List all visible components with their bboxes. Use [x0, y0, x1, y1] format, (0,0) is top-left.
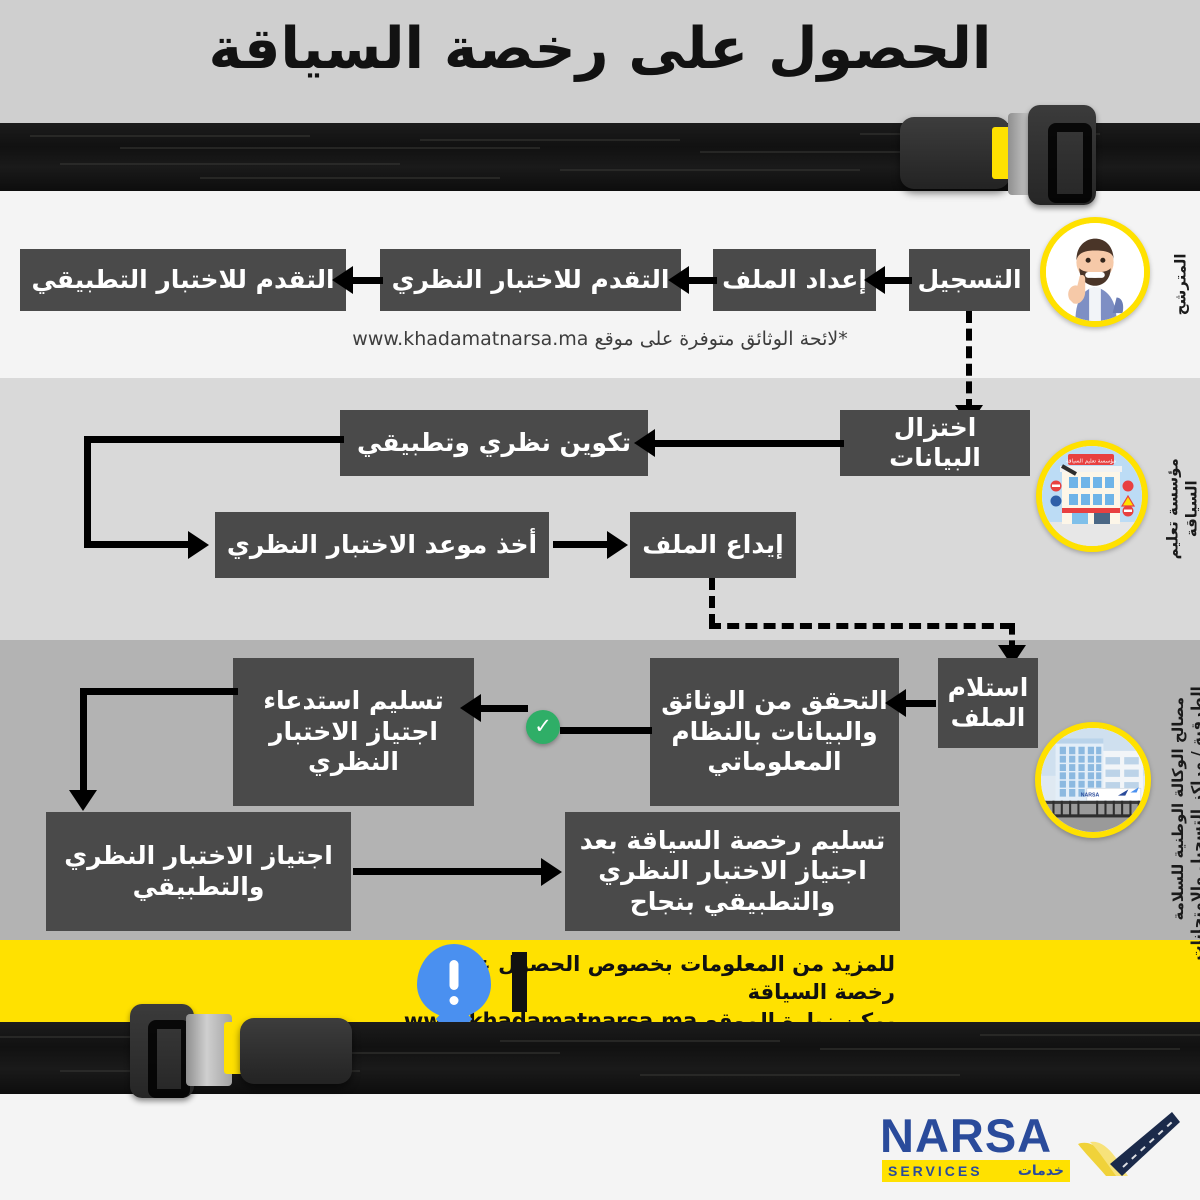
lane-label-driving-school-line2: السياقة: [1182, 439, 1200, 579]
step-box-deliver-theory-summons[interactable]: تسليم استدعاء اجتياز الاختبار النظري: [233, 658, 474, 806]
arrow-head-s9-s10: [885, 689, 906, 717]
connector-s1-s2: [882, 277, 912, 284]
lane-label-narsa: مصالح الوكالة الوطنية للسلامة الطرقية / …: [1169, 686, 1200, 931]
step-box-apply-practical-exam[interactable]: التقدم للاختبار التطبيقي: [20, 249, 346, 311]
lane-label-driving-school: مؤسسة تعليم السياقة: [1163, 439, 1200, 579]
connector-s3-s4: [350, 277, 383, 284]
connector-s12-s13: [353, 868, 543, 875]
connector-s2-s3: [686, 277, 717, 284]
page-title: الحصول على رخصة السياقة: [0, 18, 1200, 81]
narsa-logo: NARSA SERVICES خدمات: [880, 1108, 1180, 1190]
lane-label-candidate: المترشح: [1172, 229, 1191, 339]
info-pin-exclamation-stroke: [450, 960, 459, 990]
arrow-head-s5-s6: [634, 429, 655, 457]
step-box-deliver-license[interactable]: تسليم رخصة السياقة بعد اجتياز الاختبار ا…: [565, 812, 900, 931]
avatar-candidate: [1040, 217, 1150, 327]
narsa-logo-wordmark: NARSA: [880, 1108, 1052, 1163]
connector-s6-elbow-bottom: [84, 541, 190, 548]
check-glyph: ✓: [534, 716, 552, 737]
connector-s7-s8: [553, 541, 609, 548]
arrow-head-s6-s7: [188, 531, 209, 559]
dashed-connector-candidate-to-school: [966, 311, 972, 411]
lane-label-narsa-line1: مصالح الوكالة الوطنية للسلامة: [1169, 686, 1188, 931]
narsa-logo-subbar: SERVICES خدمات: [882, 1160, 1070, 1182]
driving-school-building-icon: مؤسسة تعليم السياقة: [1042, 446, 1142, 546]
info-pin-icon: [417, 944, 491, 1018]
step-box-registration[interactable]: التسجيل: [909, 249, 1030, 311]
lane-label-narsa-line2: الطرقية / مراكز التسجيل والامتحانات: [1188, 686, 1200, 931]
documents-footnote: *لائحة الوثائق متوفرة على موقع www.khada…: [0, 328, 1200, 350]
step-box-file-preparation[interactable]: إعداد الملف: [713, 249, 876, 311]
narsa-logo-services-en: SERVICES: [888, 1163, 983, 1179]
step-box-data-entry[interactable]: اختزال البيانات: [840, 410, 1030, 476]
connector-s6-elbow-top: [84, 436, 344, 443]
arrow-head-s2-s3: [668, 266, 689, 294]
narsa-logo-services-ar: خدمات: [1018, 1163, 1064, 1179]
step-box-receive-file[interactable]: استلام الملف: [938, 658, 1038, 748]
green-check-icon: ✓: [526, 710, 560, 744]
connector-s6-elbow-vertical: [84, 436, 91, 547]
dashed-connector-school-to-narsa-h: [709, 623, 1012, 629]
dashed-connector-school-to-narsa-v1: [709, 578, 715, 626]
arrow-head-s11-s12: [69, 790, 97, 811]
connector-s11-elbow-top: [80, 688, 238, 695]
step-box-file-submission[interactable]: إيداع الملف: [630, 512, 796, 578]
arrow-head-s1-s2: [864, 266, 885, 294]
arrow-head-s10-s11: [460, 694, 481, 722]
step-box-apply-theory-exam[interactable]: التقدم للاختبار النظري: [380, 249, 681, 311]
lane-label-driving-school-line1: مؤسسة تعليم: [1163, 439, 1182, 579]
step-box-theory-practical-training[interactable]: تكوين نظري وتطبيقي: [340, 410, 648, 476]
connector-s11-elbow-vertical: [80, 688, 87, 794]
infographic-page: الحصول على رخصة السياقة المترشح: [0, 0, 1200, 1200]
svg-text:NARSA: NARSA: [1081, 793, 1100, 799]
arrow-head-s12-s13: [541, 858, 562, 886]
road-checkmark-icon: [1076, 1110, 1180, 1178]
avatar-driving-school: مؤسسة تعليم السياقة: [1036, 440, 1148, 552]
connector-check-to-s11: [478, 705, 528, 712]
info-pin-exclamation-dot: [450, 996, 459, 1005]
avatar-narsa-office: NARSA: [1035, 722, 1151, 838]
connector-s9-s10: [903, 700, 936, 707]
svg-text:مؤسسة تعليم السياقة: مؤسسة تعليم السياقة: [1066, 459, 1116, 465]
step-box-book-theory-exam[interactable]: أخذ موعد الاختبار النظري: [215, 512, 549, 578]
step-box-verify-documents[interactable]: التحقق من الوثائق والبيانات بالنظام المع…: [650, 658, 899, 806]
arrow-head-s7-s8: [607, 531, 628, 559]
man-thumbs-up-avatar-icon: [1046, 223, 1144, 321]
arrow-head-s3-s4: [332, 266, 353, 294]
seatbelt-buckle-bottom: [130, 1000, 380, 1100]
info-banner-divider: [512, 952, 527, 1012]
step-box-pass-exams[interactable]: اجتياز الاختبار النظري والتطبيقي: [46, 812, 351, 931]
connector-s5-s6: [652, 440, 844, 447]
connector-s10-s11: [560, 727, 652, 734]
seatbelt-buckle-top: [900, 105, 1130, 205]
narsa-office-building-icon: NARSA: [1041, 728, 1145, 832]
